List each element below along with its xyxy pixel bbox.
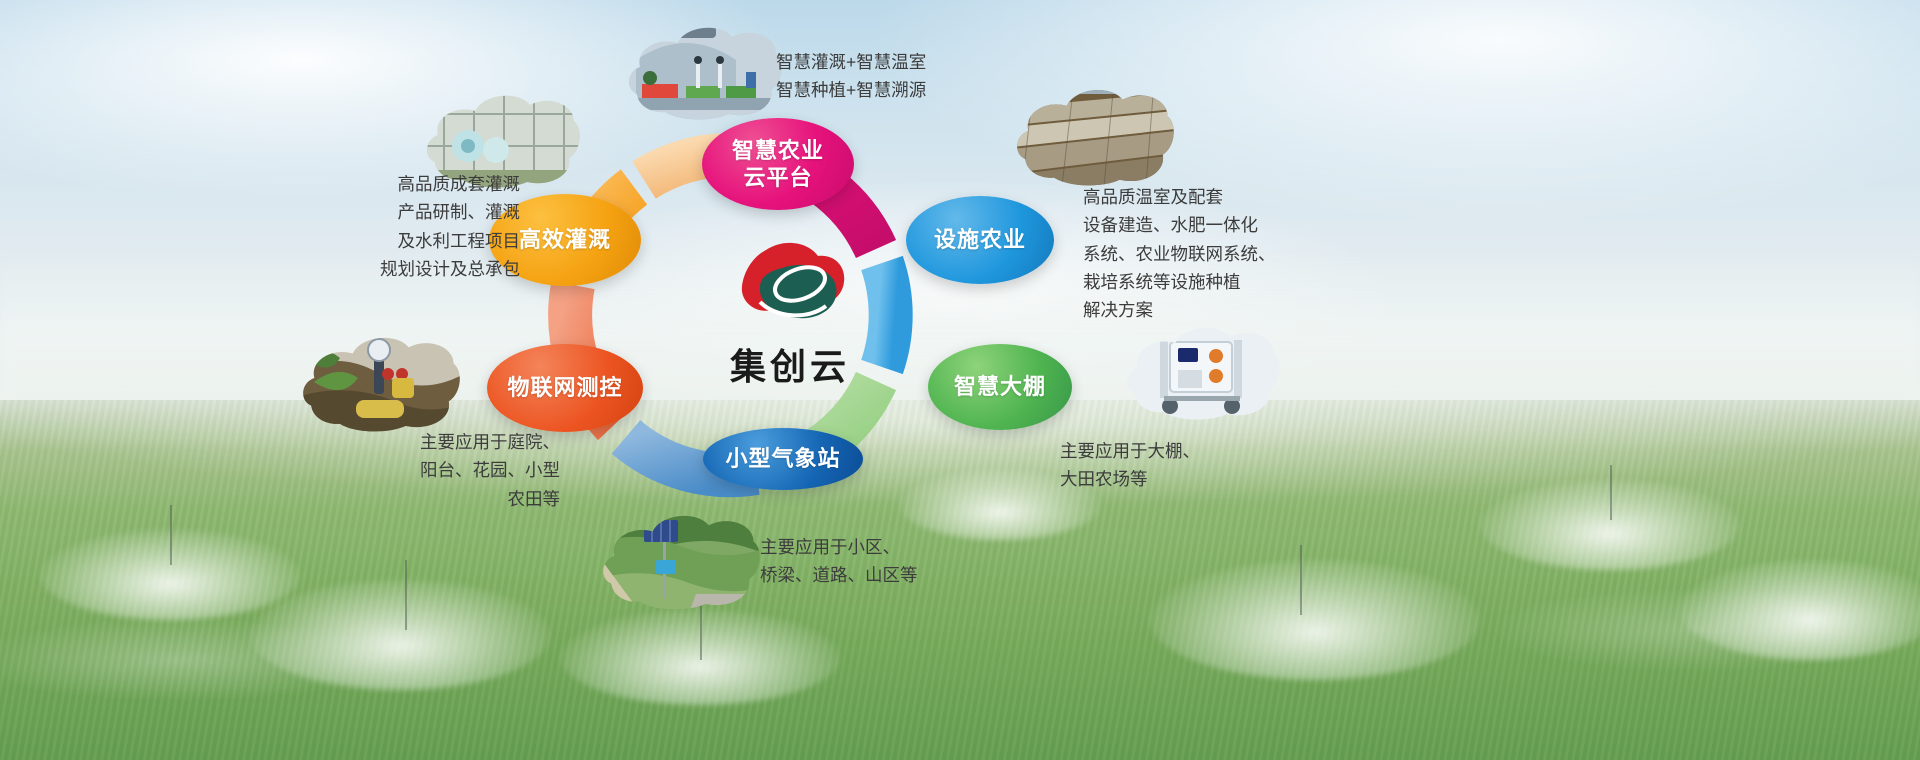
photo-weather-station-field xyxy=(600,508,760,610)
note-line: 桥梁、道路、山区等 xyxy=(760,561,918,589)
node-label-line: 物联网测控 xyxy=(507,374,622,402)
photo-irrigation-equipment xyxy=(1124,320,1280,420)
node-cloud-platform[interactable]: 智慧农业 云平台 xyxy=(702,118,854,210)
sprinkler-plume xyxy=(250,580,550,690)
note-line: 阳台、花园、小型 xyxy=(304,456,560,484)
note-facility-agriculture: 高品质温室及配套 设备建造、水肥一体化 系统、农业物联网系统、 栽培系统等设施种… xyxy=(1083,183,1276,325)
photo-garden-valve xyxy=(300,330,460,432)
sprinkler-post xyxy=(170,505,172,565)
node-label-line: 智慧大棚 xyxy=(954,373,1046,401)
node-weather-station[interactable]: 小型气象站 xyxy=(703,428,863,490)
photo-smart-greenhouse-illustration xyxy=(626,20,782,120)
sprinkler-plume xyxy=(1150,560,1480,680)
sprinkler-post xyxy=(1300,545,1302,615)
node-smart-greenhouse[interactable]: 智慧大棚 xyxy=(928,344,1072,430)
logo-wordmark: 集创云 xyxy=(730,338,850,390)
sprinkler-post xyxy=(405,560,407,630)
note-iot-monitoring: 主要应用于庭院、 阳台、花园、小型 农田等 xyxy=(304,428,560,513)
note-line: 及水利工程项目 xyxy=(280,227,520,255)
note-efficient-irrigation: 高品质成套灌溉 产品研制、灌溉 及水利工程项目 规划设计及总承包 xyxy=(280,170,520,283)
node-iot-monitoring[interactable]: 物联网测控 xyxy=(487,344,643,432)
node-label-line: 小型气象站 xyxy=(725,445,840,473)
note-line: 智慧灌溉+智慧温室 xyxy=(776,48,926,76)
cloud-leaf-logo-icon xyxy=(730,240,850,334)
node-label-line: 设施农业 xyxy=(934,226,1026,254)
note-line: 设备建造、水肥一体化 xyxy=(1083,211,1276,239)
note-line: 规划设计及总承包 xyxy=(280,255,520,283)
note-cloud-platform: 智慧灌溉+智慧温室 智慧种植+智慧溯源 xyxy=(776,48,926,105)
note-line: 大田农场等 xyxy=(1060,465,1200,493)
node-label-line: 智慧农业 xyxy=(732,137,824,165)
note-line: 主要应用于大棚、 xyxy=(1060,437,1200,465)
note-line: 智慧种植+智慧溯源 xyxy=(776,76,926,104)
note-smart-greenhouse: 主要应用于大棚、 大田农场等 xyxy=(1060,437,1200,494)
note-line: 主要应用于小区、 xyxy=(760,533,918,561)
sprinkler-post xyxy=(1610,465,1612,520)
center-logo: 集创云 xyxy=(690,240,890,400)
note-line: 系统、农业物联网系统、 xyxy=(1083,240,1276,268)
note-line: 高品质温室及配套 xyxy=(1083,183,1276,211)
note-line: 栽培系统等设施种植 xyxy=(1083,268,1276,296)
node-facility-agriculture[interactable]: 设施农业 xyxy=(906,196,1054,284)
note-weather-station: 主要应用于小区、 桥梁、道路、山区等 xyxy=(760,533,918,590)
photo-greenhouse-rows xyxy=(1014,82,1174,186)
note-line: 主要应用于庭院、 xyxy=(304,428,560,456)
node-label-line: 云平台 xyxy=(732,164,824,192)
note-line: 产品研制、灌溉 xyxy=(280,198,520,226)
note-line: 解决方案 xyxy=(1083,296,1276,324)
note-line: 高品质成套灌溉 xyxy=(280,170,520,198)
node-label-line: 高效灌溉 xyxy=(519,226,611,254)
note-line: 农田等 xyxy=(304,485,560,513)
